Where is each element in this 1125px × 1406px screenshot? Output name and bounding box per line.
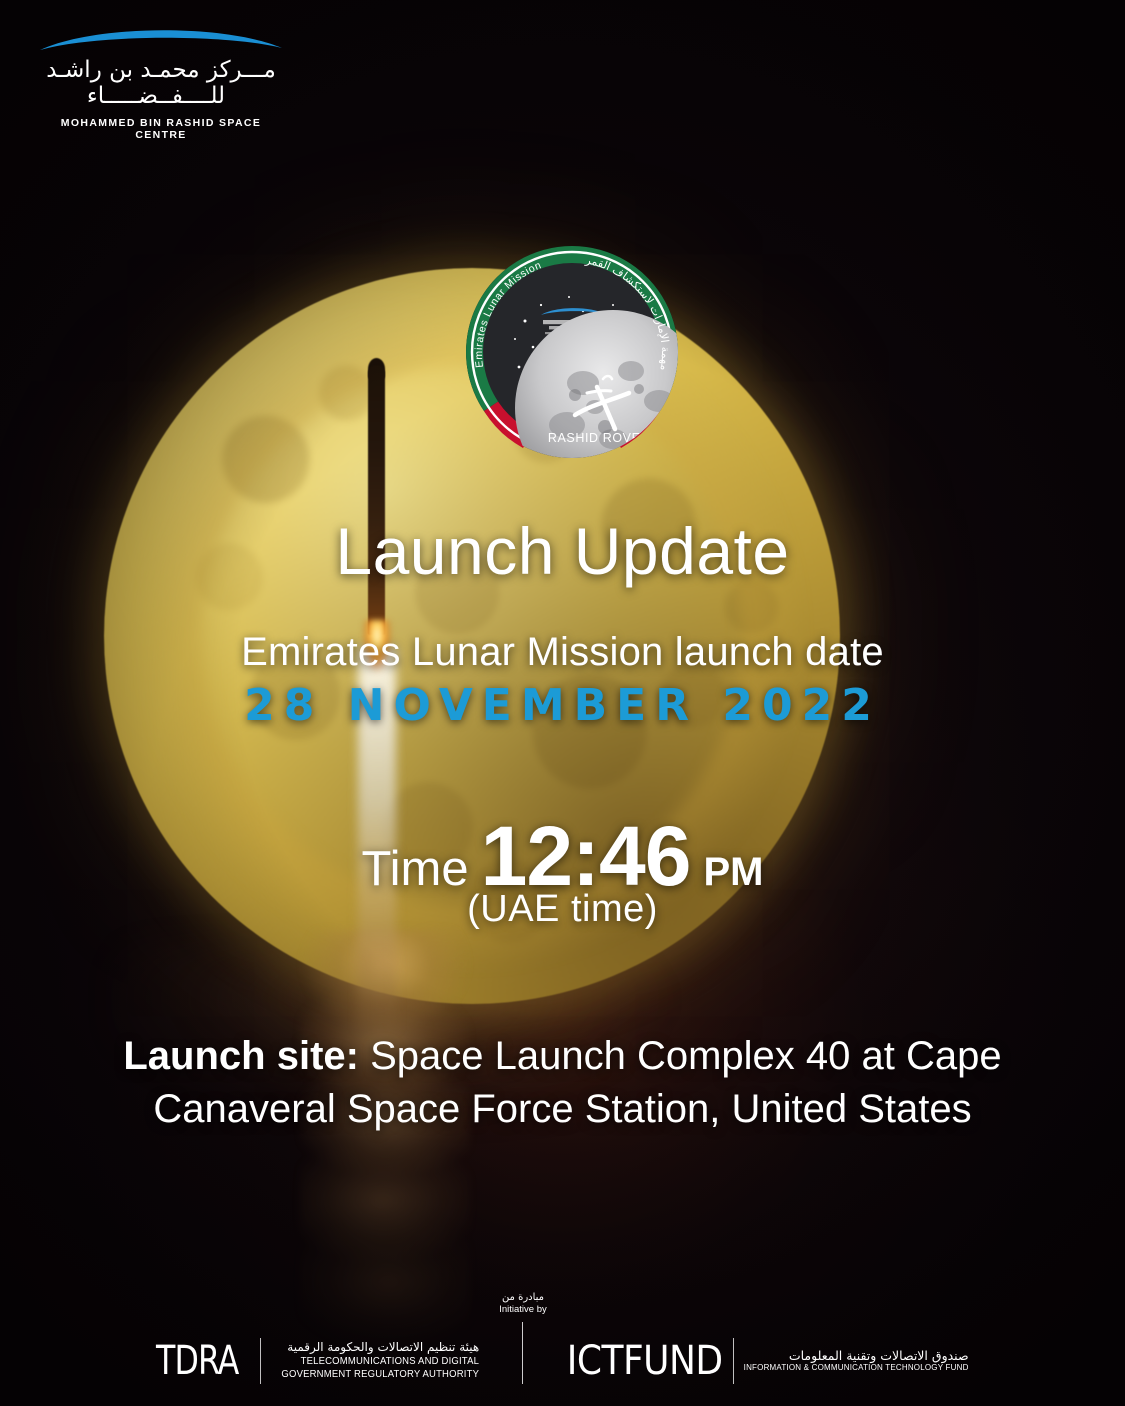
emirates-lunar-mission-patch-icon: RASHID ROVER Emirates Lunar Mission مهمة… bbox=[463, 243, 681, 461]
tdra-arabic: هيئة تنظيم الاتصالات والحكومة الرقمية bbox=[271, 1340, 479, 1355]
ictfund-logo: ICTFUND صندوق الاتصالات وتقنية المعلومات… bbox=[551, 1338, 969, 1384]
mbrsc-arabic-line-1: مـــركز محمـد بن راشـد bbox=[46, 57, 276, 83]
mbrsc-arabic-line-2: للــــفــضـــــاء bbox=[36, 84, 286, 110]
tdra-subtitle: هيئة تنظيم الاتصالات والحكومة الرقمية TE… bbox=[271, 1340, 479, 1381]
tdra-english-line-1: TELECOMMUNICATIONS AND DIGITAL bbox=[282, 1355, 480, 1368]
mbrsc-arc-icon bbox=[36, 22, 286, 56]
mbrsc-logo: مـــركز محمـد بن راشـد للــــفــضـــــاء… bbox=[36, 22, 286, 141]
footer-divider bbox=[522, 1322, 523, 1384]
initiative-by-block: مبادرة من Initiative by bbox=[499, 1292, 547, 1384]
launch-site-text: Launch site: Space Launch Complex 40 at … bbox=[88, 1030, 1037, 1136]
tdra-logo: TDRA هيئة تنظيم الاتصالات والحكومة الرقم… bbox=[156, 1338, 495, 1384]
tdra-english-line-2: GOVERNMENT REGULATORY AUTHORITY bbox=[282, 1368, 480, 1381]
rocket-silhouette bbox=[368, 365, 385, 635]
footer-logos: TDRA هيئة تنظيم الاتصالات والحكومة الرقم… bbox=[0, 1292, 1125, 1384]
tdra-wordmark: TDRA bbox=[156, 1341, 238, 1381]
initiative-by-text: مبادرة من Initiative by bbox=[499, 1292, 547, 1316]
time-zone-note: (UAE time) bbox=[0, 888, 1125, 931]
initiative-arabic: مبادرة من bbox=[499, 1292, 547, 1304]
ictfund-arabic: صندوق الاتصالات وتقنية المعلومات bbox=[744, 1348, 969, 1364]
ictfund-subtitle: صندوق الاتصالات وتقنية المعلومات INFORMA… bbox=[744, 1348, 969, 1374]
ictfund-divider bbox=[733, 1338, 734, 1384]
mission-subtitle: Emirates Lunar Mission launch date bbox=[0, 630, 1125, 675]
mbrsc-arabic-name: مـــركز محمـد بن راشـد للــــفــضـــــاء bbox=[36, 58, 286, 110]
initiative-english: Initiative by bbox=[499, 1304, 547, 1316]
mbrsc-english-name: MOHAMMED BIN RASHID SPACE CENTRE bbox=[36, 117, 286, 141]
launch-update-poster: مـــركز محمـد بن راشـد للــــفــضـــــاء… bbox=[0, 0, 1125, 1406]
tdra-divider bbox=[260, 1338, 261, 1384]
launch-site-label: Launch site: bbox=[123, 1034, 359, 1078]
ictfund-wordmark: ICTFUND bbox=[567, 1341, 723, 1381]
launch-date: 28 NOVEMBER 2022 bbox=[0, 680, 1125, 731]
page-title: Launch Update bbox=[0, 513, 1125, 589]
ictfund-english: INFORMATION & COMMUNICATION TECHNOLOGY F… bbox=[744, 1363, 969, 1373]
